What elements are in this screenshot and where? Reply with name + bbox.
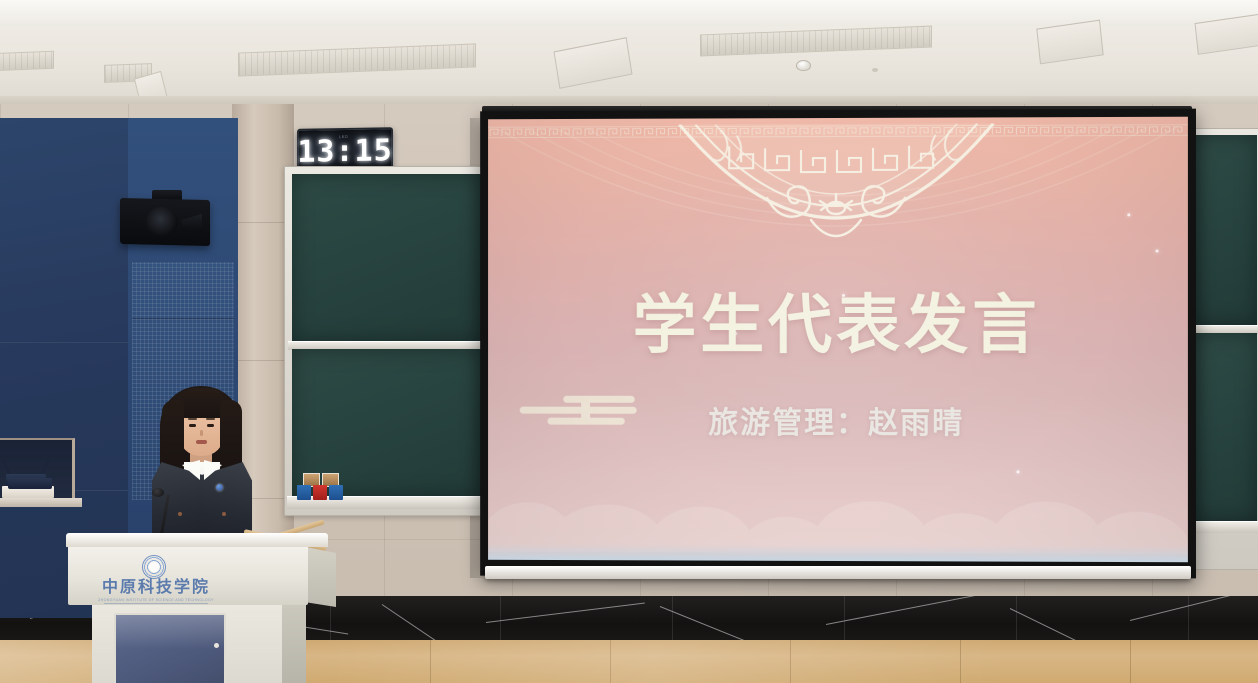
- blackboard-chalk-ledge-right: [1189, 521, 1258, 533]
- microphone-head-icon: [152, 488, 164, 497]
- screen-bottom-weight-bar: [485, 566, 1191, 579]
- eyebrow-left: [188, 418, 197, 420]
- projection-screen: 学生代表发言 旅游管理：赵雨晴: [480, 109, 1196, 579]
- chalk-box-blue: [297, 485, 311, 500]
- podium-institution-name-cn: 中原科技学院: [90, 579, 222, 595]
- university-seal-icon: [142, 555, 166, 579]
- lapel-badge-icon: [216, 484, 223, 491]
- chalk-box-blue: [329, 485, 343, 500]
- nose: [200, 430, 203, 436]
- lectern-podium: 中原科技学院 ZHONGYUAN INSTITUTE OF SCIENCE AN…: [66, 533, 328, 683]
- clock-micro-label: LED: [339, 134, 348, 139]
- smoke-detector-icon: [796, 60, 811, 71]
- mouth: [196, 440, 207, 444]
- podium-lock-knob: [214, 643, 219, 648]
- wall-loudspeaker-icon: [120, 198, 210, 246]
- niche-ledge: [0, 498, 82, 507]
- ceiling-sprinkler-icon: [872, 68, 878, 72]
- blazer-button: [222, 512, 226, 516]
- folded-cloth: [8, 478, 52, 489]
- panel-glare: [116, 615, 224, 649]
- sliding-blackboard: [284, 166, 490, 516]
- eyebrow-right: [206, 418, 215, 420]
- sliding-blackboard-right: [1188, 128, 1258, 570]
- blackboard-upper-panel-right: [1193, 135, 1257, 325]
- ceiling-panel: [553, 37, 632, 89]
- blackboard-lower-panel-right: [1193, 333, 1257, 521]
- podium-control-panel: [114, 613, 226, 683]
- eye-right: [207, 424, 214, 427]
- podium-name-underline: [104, 603, 208, 604]
- lecture-hall-scene: LED 13:15: [0, 0, 1258, 683]
- ceiling-soffit: [0, 0, 1258, 26]
- chalk-box-red: [313, 485, 327, 500]
- screen-bottom-band: [488, 544, 1188, 562]
- ceiling-air-vent: [0, 51, 54, 71]
- blackboard-upper-panel: [292, 174, 482, 342]
- speaker-cone: [146, 207, 178, 238]
- ceiling-panel: [1036, 20, 1103, 65]
- podium-institution-name-en: ZHONGYUAN INSTITUTE OF SCIENCE AND TECHN…: [90, 598, 222, 602]
- ceiling-air-vent: [238, 43, 476, 76]
- podium-desktop: [66, 533, 328, 547]
- podium-top-side: [306, 547, 336, 607]
- clock-time-display: 13:15: [297, 136, 392, 168]
- panel-seam: [132, 318, 234, 319]
- projected-slide: 学生代表发言 旅游管理：赵雨晴: [488, 117, 1188, 563]
- podium-body-side: [282, 603, 306, 683]
- blackboard-lower-panel: [292, 349, 482, 497]
- eye-left: [189, 424, 196, 427]
- podium-front-face: 中原科技学院 ZHONGYUAN INSTITUTE OF SCIENCE AN…: [68, 543, 308, 605]
- blazer-button: [178, 512, 182, 516]
- ceiling-air-vent: [700, 26, 932, 57]
- ceiling: [0, 0, 1258, 108]
- student-speaker: [146, 386, 258, 546]
- speaker-horn: [182, 213, 202, 231]
- screen-vignette: [488, 117, 1188, 563]
